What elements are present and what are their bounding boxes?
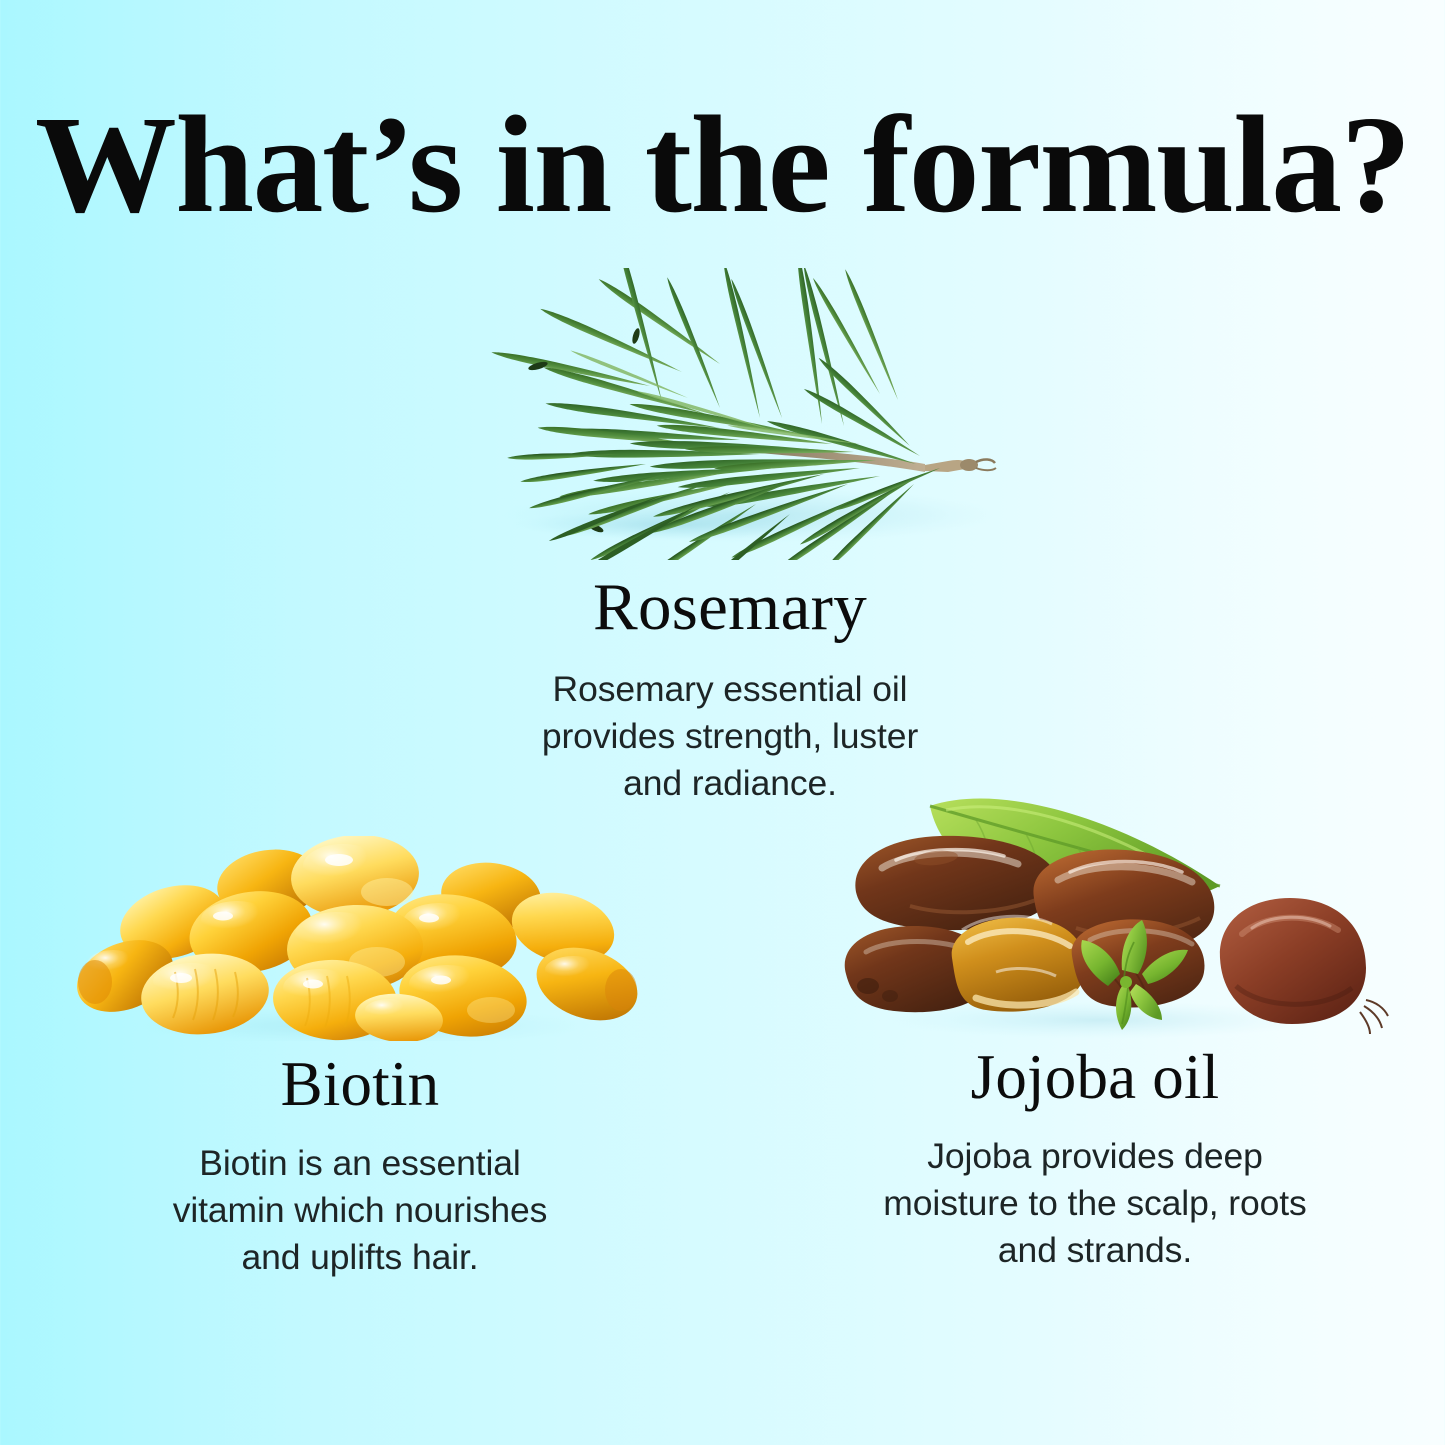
ingredient-description-jojoba: Jojoba provides deep moisture to the sca… [790,1133,1400,1275]
page-title: What’s in the formula? [0,96,1445,235]
ingredient-card-rosemary: Rosemary Rosemary essential oil provides… [420,268,1040,808]
description-line: vitamin which nourishes [55,1187,665,1234]
description-line: moisture to the scalp, roots [790,1180,1400,1227]
ingredient-card-jojoba: Jojoba oil Jojoba provides deep moisture… [790,762,1400,1275]
description-line: Jojoba provides deep [790,1133,1400,1180]
description-line: Biotin is an essential [55,1140,665,1187]
description-line: provides strength, luster [420,713,1040,760]
biotin-capsules-icon [55,836,665,1041]
jojoba-seeds-icon [790,762,1400,1040]
ingredient-name-rosemary: Rosemary [420,574,1040,641]
ingredient-name-biotin: Biotin [55,1053,665,1116]
ingredient-name-jojoba: Jojoba oil [790,1046,1400,1109]
description-line: Rosemary essential oil [420,666,1040,713]
ingredient-description-biotin: Biotin is an essential vitamin which nou… [55,1140,665,1282]
rosemary-sprig-icon [420,268,1040,560]
description-line: and uplifts hair. [55,1234,665,1281]
description-line: and strands. [790,1227,1400,1274]
ingredient-card-biotin: Biotin Biotin is an essential vitamin wh… [55,836,665,1282]
